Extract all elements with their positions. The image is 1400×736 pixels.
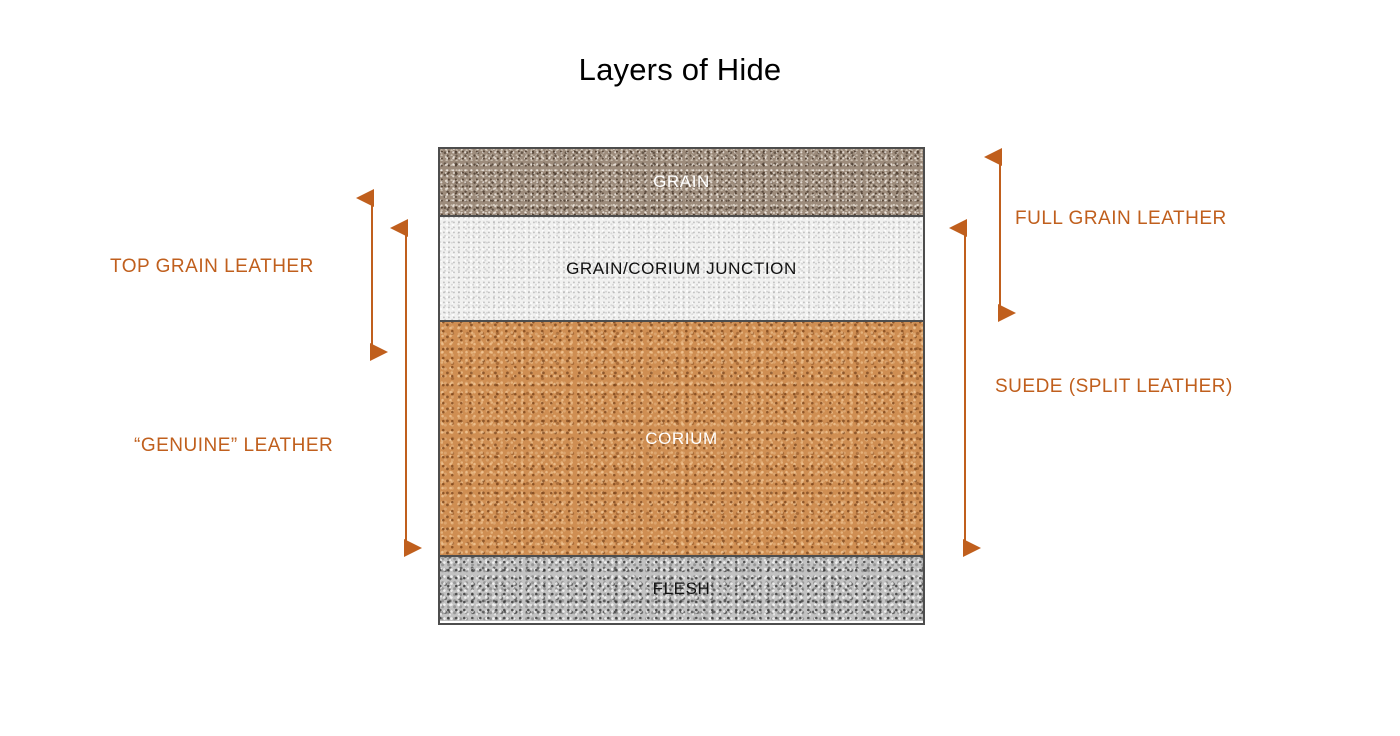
- page-title: Layers of Hide: [0, 52, 1360, 88]
- layer-flesh: FLESH: [440, 555, 923, 621]
- layer-grain-corium-junction: GRAIN/CORIUM JUNCTION: [440, 215, 923, 320]
- callout-top-grain-leather: TOP GRAIN LEATHER: [110, 256, 314, 278]
- layer-flesh-label: FLESH: [653, 579, 711, 599]
- layer-corium-label: CORIUM: [645, 429, 718, 449]
- callout-genuine-leather: “GENUINE” LEATHER: [134, 435, 333, 457]
- callout-suede-split-leather: SUEDE (SPLIT LEATHER): [995, 376, 1233, 398]
- hide-layer-stack: GRAIN GRAIN/CORIUM JUNCTION CORIUM FLESH: [438, 147, 925, 625]
- layer-junction-label: GRAIN/CORIUM JUNCTION: [566, 259, 797, 279]
- callout-full-grain-leather: FULL GRAIN LEATHER: [1015, 208, 1227, 230]
- layer-grain-label: GRAIN: [653, 172, 710, 192]
- layer-grain: GRAIN: [440, 149, 923, 215]
- layer-corium: CORIUM: [440, 320, 923, 555]
